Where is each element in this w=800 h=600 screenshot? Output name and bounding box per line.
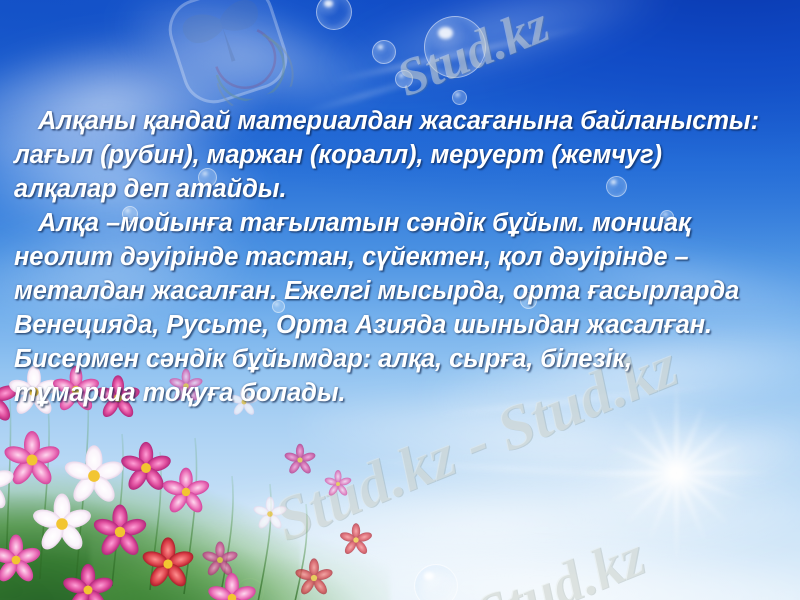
body-line: алқалар деп атайды. <box>14 172 790 206</box>
soap-bubble <box>452 90 467 105</box>
body-line: Венецияда, Русьте, Орта Азияда шыныдан ж… <box>14 308 790 342</box>
body-line: Алқа –мойынға тағылатын сәндік бұйым. мо… <box>14 206 790 240</box>
body-line: неолит дәуірінде тастан, сүйектен, қол д… <box>14 240 790 274</box>
body-line: тұмарша тоқуға болады. <box>14 376 790 410</box>
body-line: металдан жасалған. Ежелгі мысырда, орта … <box>14 274 790 308</box>
body-line: Бисермен сәндік бұйымдар: алқа, сырға, б… <box>14 342 790 376</box>
soap-bubble <box>236 578 264 600</box>
soap-bubble <box>414 564 458 600</box>
body-line: Алқаны қандай материалдан жасағанына бай… <box>14 104 790 138</box>
slide-canvas: Stud.kz Stud.kz - Stud.kz Stud.kz <box>0 0 800 600</box>
slide-body-text: Алқаны қандай материалдан жасағанына бай… <box>0 104 800 410</box>
body-line: лағыл (рубин), маржан (коралл), меруерт … <box>14 138 790 172</box>
